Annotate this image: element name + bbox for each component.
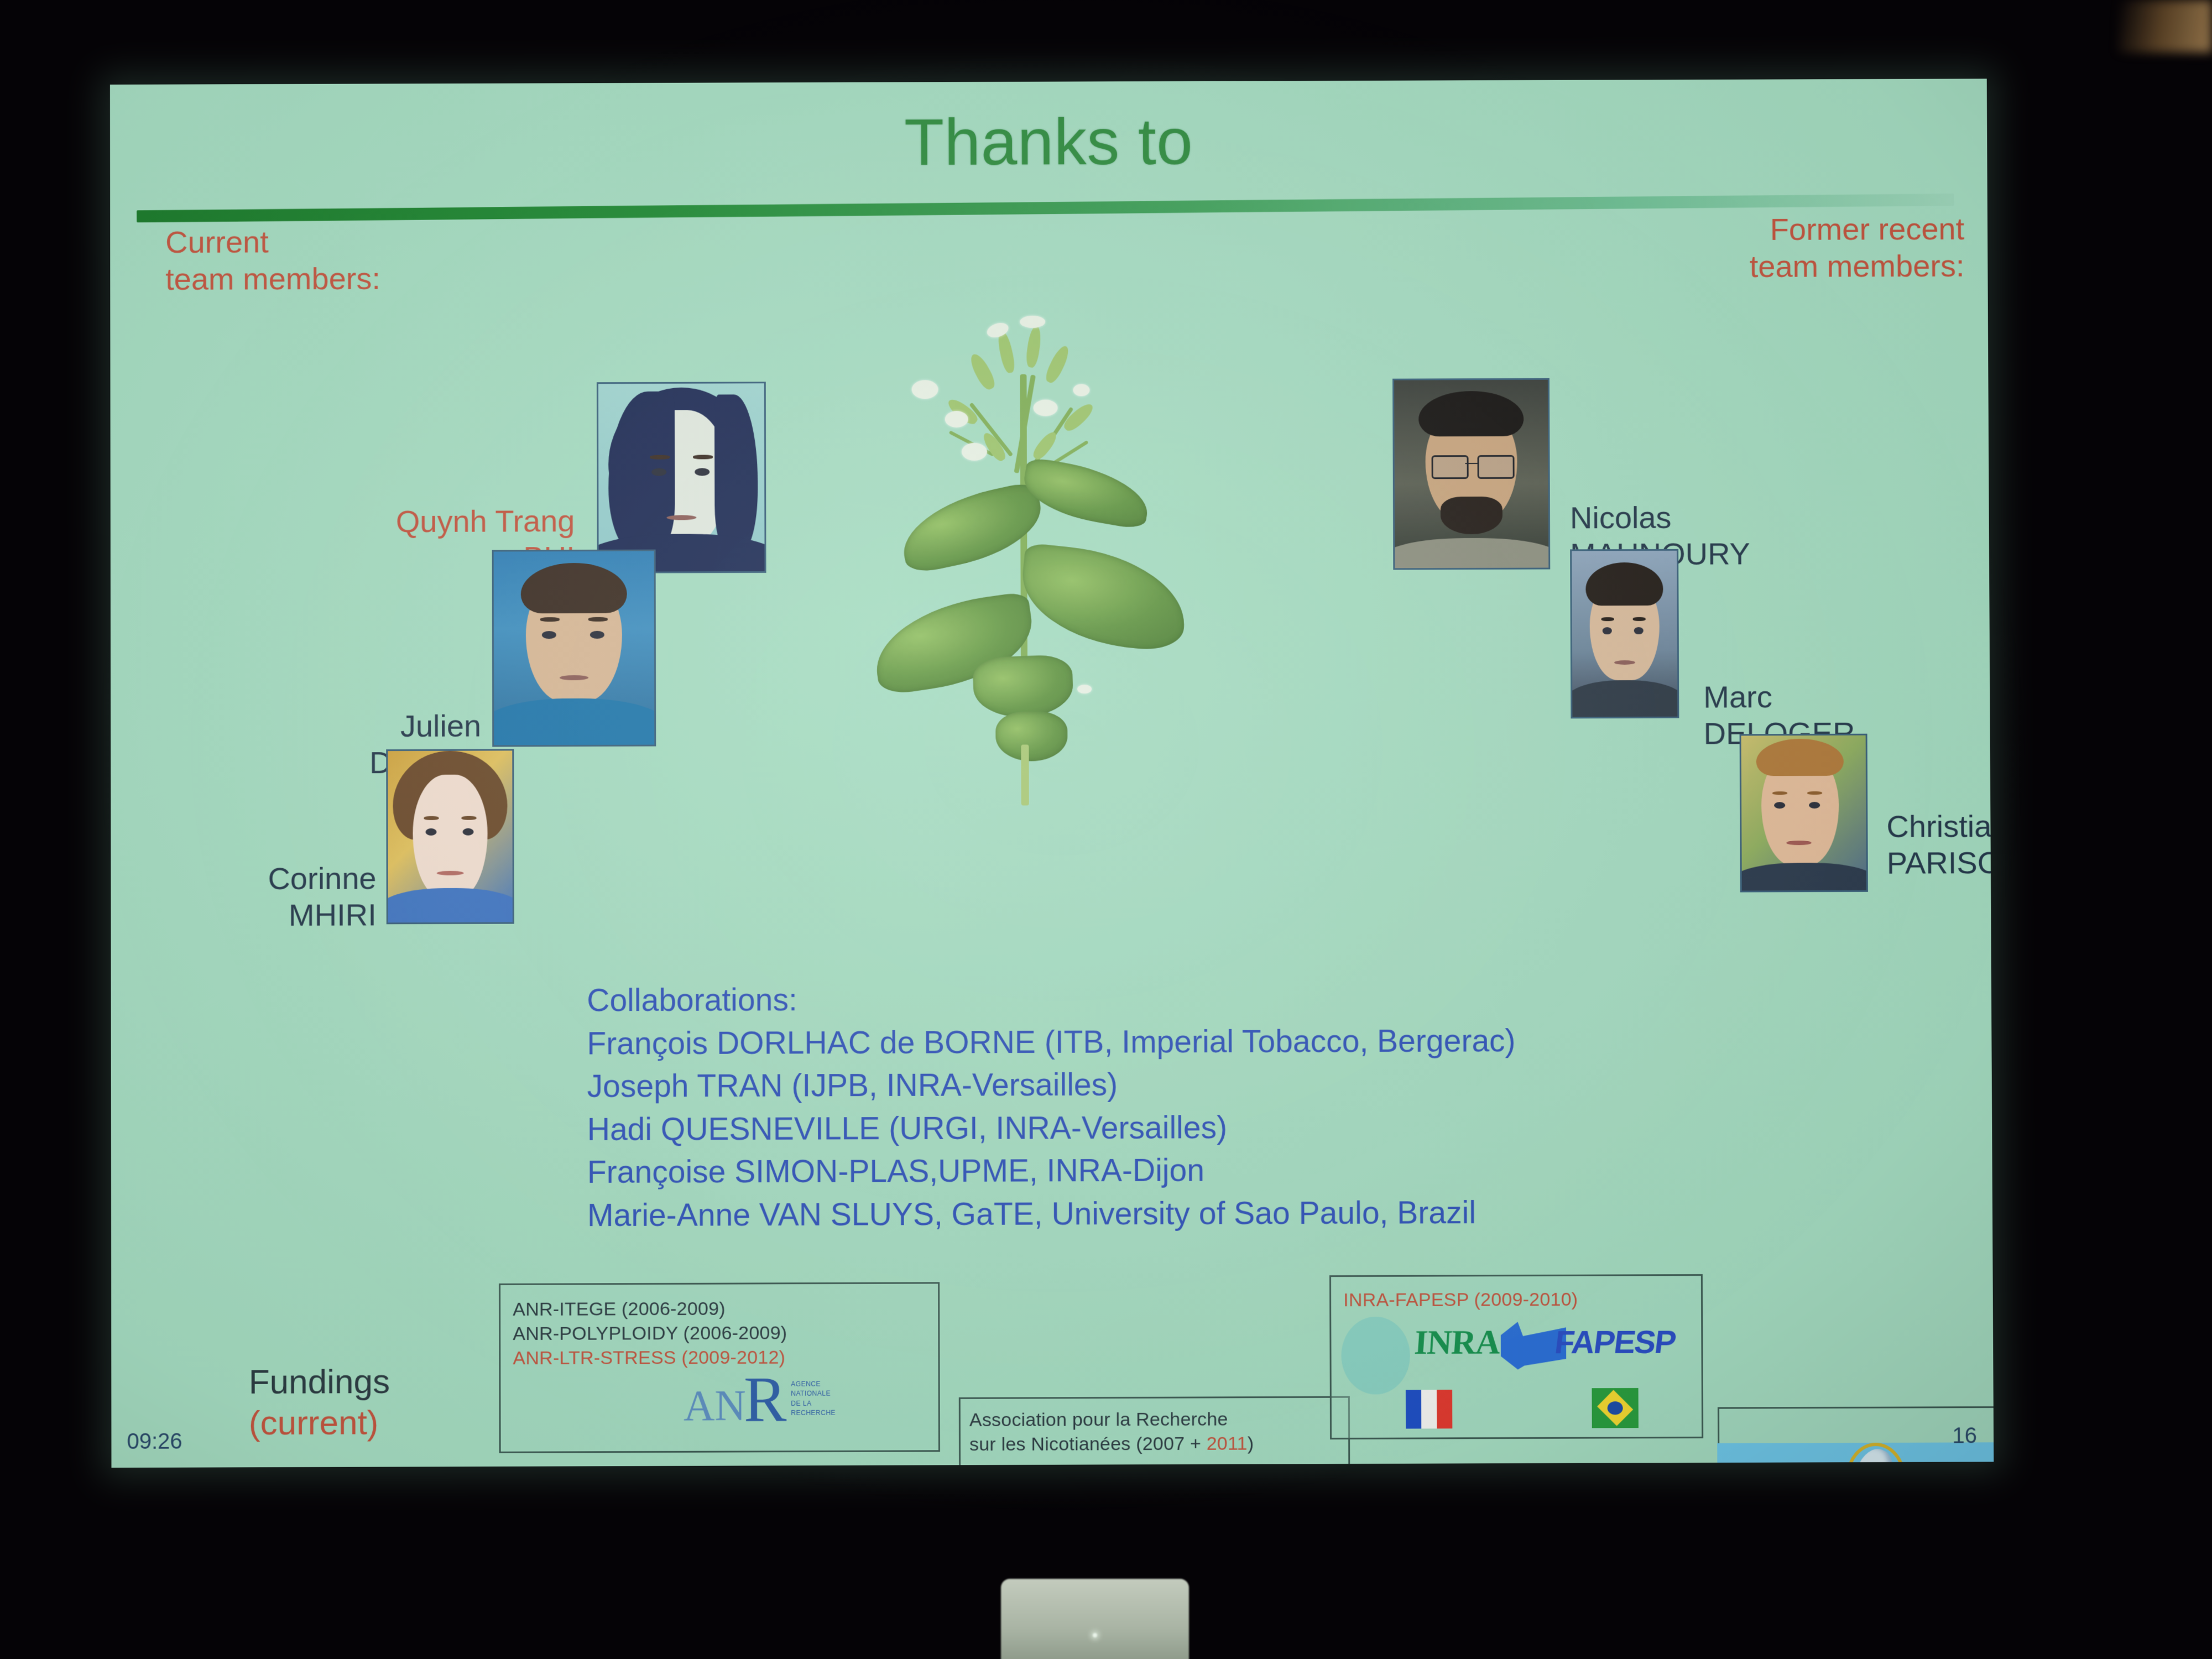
brazil-flag-icon xyxy=(1592,1388,1638,1428)
anr-logo-text-an: AN xyxy=(684,1387,746,1424)
avatar-julien-daniel xyxy=(492,550,656,747)
collaboration-item: Françoise SIMON-PLAS,UPME, INRA-Dijon xyxy=(587,1149,1516,1194)
avatar-quynh-trang-bui xyxy=(597,382,766,573)
arn-line-2-a: sur les Nicotianées (2007 + xyxy=(969,1433,1207,1455)
genoscope-logo-text-left: GEN xyxy=(1761,1454,1839,1468)
funding-box-arn: Association pour la Recherche sur les Ni… xyxy=(959,1396,1350,1468)
title-divider-rule xyxy=(137,194,1954,222)
member-name-corinne-mhiri: Corinne MHIRI xyxy=(144,860,376,933)
page-title: Thanks to xyxy=(110,102,1987,182)
current-team-header: Current team members: xyxy=(165,223,380,298)
former-team-header: Former recent team members: xyxy=(1749,210,1964,285)
anr-grant-line-highlight: ANR-LTR-STRESS (2009-2012) xyxy=(513,1345,938,1371)
anr-grant-line: ANR-POLYPLOIDY (2006-2009) xyxy=(513,1321,938,1347)
collaborations-block: Collaborations: François DORLHAC de BORN… xyxy=(587,977,1516,1237)
anr-grant-line: ANR-ITEGE (2006-2009) xyxy=(513,1296,938,1322)
nicotiana-plant-image xyxy=(856,291,1245,911)
anr-logo-subtext: AGENCE NATIONALE DE LA RECHERCHE xyxy=(791,1379,836,1418)
arn-line-1: Association pour la Recherche xyxy=(969,1407,1348,1432)
collaborations-header: Collaborations: xyxy=(587,977,1515,1022)
collaboration-item: Marie-Anne VAN SLUYS, GaTE, University o… xyxy=(587,1191,1516,1237)
avatar-corinne-mhiri xyxy=(386,749,514,924)
genoscope-logo-text-right: SCOPE xyxy=(1892,1454,1994,1468)
fapesp-logo-text: FAPESP xyxy=(1553,1323,1677,1361)
laptop-lid xyxy=(1001,1579,1189,1659)
anr-logo: AN R AGENCE NATIONALE DE LA RECHERCHE xyxy=(684,1377,836,1424)
inra-logo-blob xyxy=(1341,1317,1410,1395)
collaboration-item: Hadi QUESNEVILLE (URGI, INRA-Versailles) xyxy=(587,1105,1516,1151)
projection-room: Thanks to Current team members: Former r… xyxy=(0,0,2212,1659)
collaboration-item: Joseph TRAN (IJPB, INRA-Versailles) xyxy=(587,1062,1516,1108)
fundings-label-block: Fundings (current) xyxy=(249,1361,390,1444)
funding-box-inra-fapesp: INRA-FAPESP (2009-2010) INRA FAPESP xyxy=(1329,1274,1703,1439)
anr-logo-text-r: R xyxy=(744,1378,787,1424)
avatar-nicolas-maunoury xyxy=(1392,378,1550,570)
arn-line-2: sur les Nicotianées (2007 + 2011) xyxy=(969,1431,1348,1457)
projected-slide: Thanks to Current team members: Former r… xyxy=(110,79,1994,1468)
laptop-indicator-light xyxy=(1093,1633,1097,1637)
fundings-sublabel: (current) xyxy=(249,1403,390,1444)
arn-line-2-c: ) xyxy=(1248,1433,1254,1454)
inra-logo-text: INRA xyxy=(1413,1323,1501,1363)
genoscope-ring-icon xyxy=(1846,1443,1906,1468)
inra-fapesp-title: INRA-FAPESP (2009-2010) xyxy=(1343,1287,1701,1312)
fundings-label: Fundings xyxy=(249,1363,390,1401)
avatar-marc-deloger xyxy=(1570,549,1679,719)
collaboration-item: François DORLHAC de BORNE (ITB, Imperial… xyxy=(587,1020,1515,1066)
france-flag-icon xyxy=(1406,1390,1452,1428)
arn-line-2-year: 2011 xyxy=(1207,1433,1248,1454)
slide-timestamp: 09:26 xyxy=(127,1429,182,1454)
member-name-christian-parisod: Christian PARISOD xyxy=(1886,807,1994,881)
avatar-christian-parisod xyxy=(1740,734,1868,893)
slide-number: 16 xyxy=(1952,1423,1977,1448)
funding-box-anr: ANR-ITEGE (2006-2009) ANR-POLYPLOIDY (20… xyxy=(499,1282,940,1453)
